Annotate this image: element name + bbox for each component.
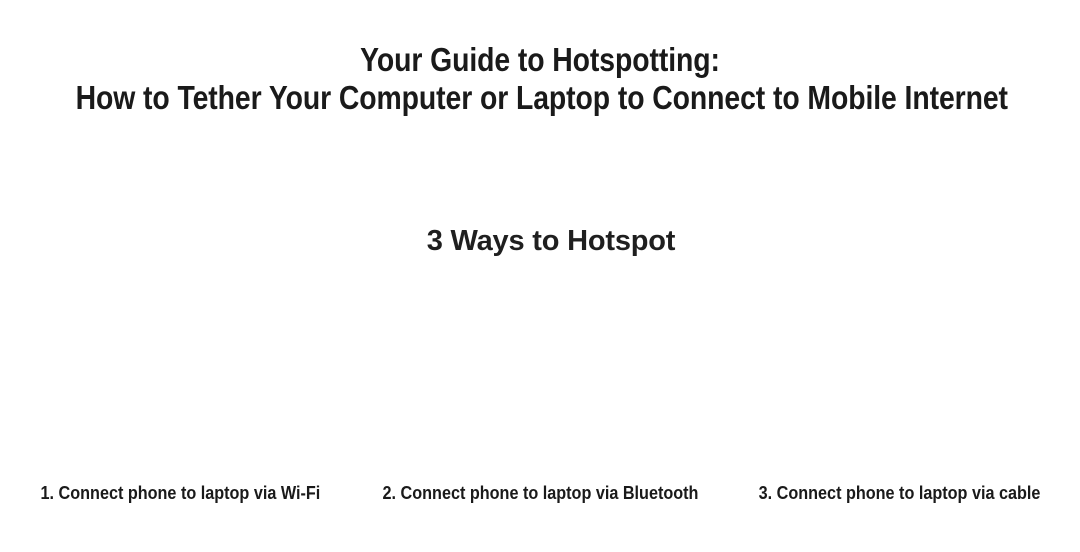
section-heading: 3 Ways to Hotspot bbox=[0, 224, 1080, 258]
section-heading-label: 3 Ways to Hotspot bbox=[427, 225, 675, 257]
page-title: Your Guide to Hotspotting: How to Tether… bbox=[0, 41, 1080, 117]
method-item-wifi: 1. Connect phone to laptop via Wi-Fi bbox=[0, 286, 360, 526]
method-item-cable: 3. Connect phone to laptop via cable bbox=[720, 286, 1080, 526]
page-title-line-2: How to Tether Your Computer or Laptop to… bbox=[76, 79, 1005, 117]
method-illustration-wifi bbox=[0, 286, 360, 482]
method-item-bluetooth: 2. Connect phone to laptop via Bluetooth bbox=[360, 286, 720, 526]
method-illustration-bluetooth bbox=[360, 286, 720, 482]
method-illustration-cable bbox=[720, 286, 1080, 482]
infographic-page: Your Guide to Hotspotting: How to Tether… bbox=[0, 0, 1080, 552]
page-title-line-1: Your Guide to Hotspotting: bbox=[76, 41, 1005, 79]
method-caption-bluetooth: 2. Connect phone to laptop via Bluetooth bbox=[382, 482, 698, 526]
method-caption-wifi: 1. Connect phone to laptop via Wi-Fi bbox=[40, 482, 320, 526]
method-caption-cable: 3. Connect phone to laptop via cable bbox=[759, 482, 1041, 526]
methods-row: 1. Connect phone to laptop via Wi-Fi 2. … bbox=[0, 286, 1080, 526]
